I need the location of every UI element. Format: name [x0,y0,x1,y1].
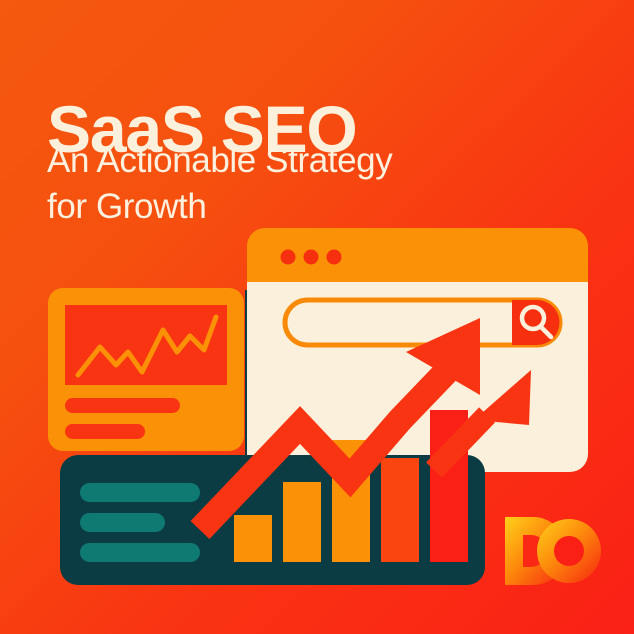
bar-1 [234,515,272,562]
search-bar[interactable] [285,300,560,345]
panel-text-line-3 [80,543,200,562]
teal-panel-card [60,455,485,585]
dashboard-chart-panel [65,305,227,385]
window-dot-close-icon[interactable] [281,250,296,265]
orange-dashboard-card [48,288,244,451]
brand-logo[interactable] [497,505,607,585]
poster-canvas: SaaS SEO An Actionable Strategy for Grow… [0,0,634,634]
window-dot-minimize-icon[interactable] [304,250,319,265]
browser-title-bar [247,228,588,282]
panel-text-line-1 [80,483,200,502]
panel-text-line-2 [80,513,165,532]
window-dot-maximize-icon[interactable] [327,250,342,265]
bar-4 [381,458,419,562]
dashboard-text-line-2 [65,424,145,439]
bar-2 [283,482,321,562]
logo-mark-do [505,517,601,585]
dashboard-text-line-1 [65,398,180,413]
